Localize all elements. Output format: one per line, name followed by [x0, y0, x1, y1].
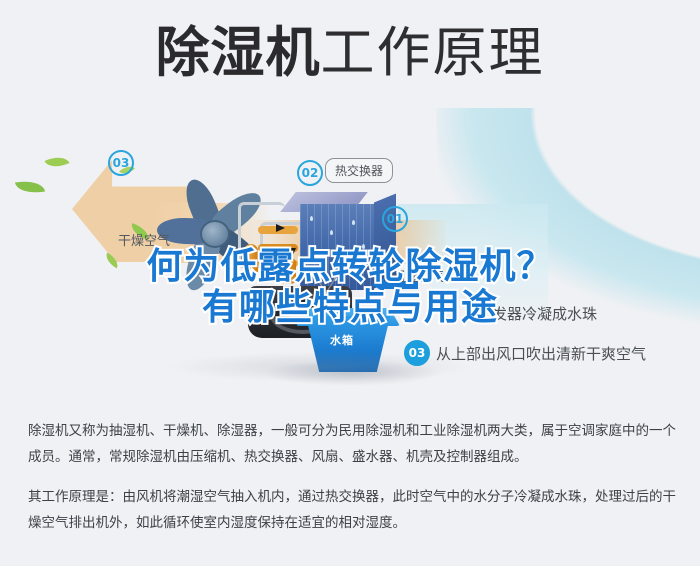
compressor-cylinder	[280, 258, 296, 284]
callout-badge-03-bottom: 03	[404, 340, 430, 366]
callout-badge-01: 01	[382, 206, 408, 232]
flow-arrow-down-icon	[288, 248, 296, 257]
page-title: 除湿机工作原理	[0, 22, 700, 84]
bottom-callout-row: 03 从上部出风口吹出清新干爽空气	[404, 340, 646, 366]
water-droplet-icon	[310, 216, 313, 221]
flow-arrow-up-icon	[262, 246, 270, 255]
title-part-2: 工作原理	[321, 22, 545, 84]
body-copy: 除湿机又称为抽湿机、干燥机、除湿器，一般可分为民用除湿机和工业除湿机两大类，属于…	[28, 418, 676, 550]
leaf-icon	[45, 152, 70, 172]
condensation-caption: 发器冷凝成水珠	[492, 303, 597, 324]
infographic-page: 除湿机工作原理	[0, 0, 700, 566]
callout-label-dry-air: 干燥空气	[118, 230, 170, 249]
water-droplet-icon	[330, 230, 333, 235]
callout-label-humid-air: 潮湿空气	[392, 266, 444, 285]
water-droplet-icon	[344, 262, 347, 267]
water-droplet-icon	[308, 272, 311, 277]
leaf-icon	[15, 178, 45, 197]
callout-badge-03: 03	[108, 150, 134, 176]
fan-hub	[200, 220, 230, 248]
body-paragraph-2: 其工作原理是：由风机将潮湿空气抽入机内，通过热交换器，此时空气中的水分子冷凝成水…	[28, 484, 676, 536]
flow-arrow-right-icon	[276, 224, 285, 232]
title-part-1: 除湿机	[156, 22, 321, 84]
compressor-cylinder	[244, 244, 258, 278]
callout-bubble-heat-exchanger: 热交换器	[325, 158, 393, 183]
callout-badge-02: 02	[297, 160, 323, 186]
compressor-assembly	[236, 200, 308, 286]
water-droplet-icon	[352, 220, 355, 225]
water-tank-label: 水箱	[330, 332, 354, 348]
water-droplet-icon	[318, 252, 321, 257]
body-paragraph-1: 除湿机又称为抽湿机、干燥机、除湿器，一般可分为民用除湿机和工业除湿机两大类，属于…	[28, 418, 676, 470]
bottom-callout-text: 从上部出风口吹出清新干爽空气	[436, 343, 646, 364]
water-droplet-icon	[362, 244, 365, 249]
